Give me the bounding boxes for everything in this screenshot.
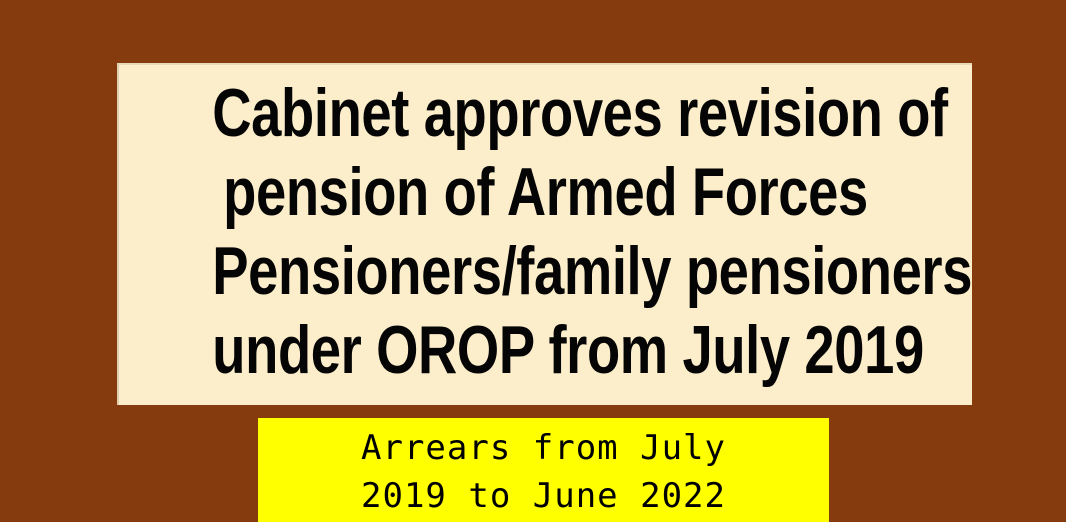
headline-line-1: Cabinet approves revision of xyxy=(212,74,878,153)
headline-line-2: pension of Armed Forces xyxy=(212,153,878,232)
headline-line-3: Pensioners/family pensioners xyxy=(212,232,878,311)
headline-line-4: under OROP from July 2019 xyxy=(212,311,878,390)
arrears-line-2: 2019 to June 2022 xyxy=(258,472,829,520)
headline-panel: Cabinet approves revision of pension of … xyxy=(117,63,972,405)
poster-root: Cabinet approves revision of pension of … xyxy=(0,0,1066,522)
arrears-banner: Arrears from July 2019 to June 2022 xyxy=(258,418,829,522)
arrears-line-1: Arrears from July xyxy=(258,424,829,472)
